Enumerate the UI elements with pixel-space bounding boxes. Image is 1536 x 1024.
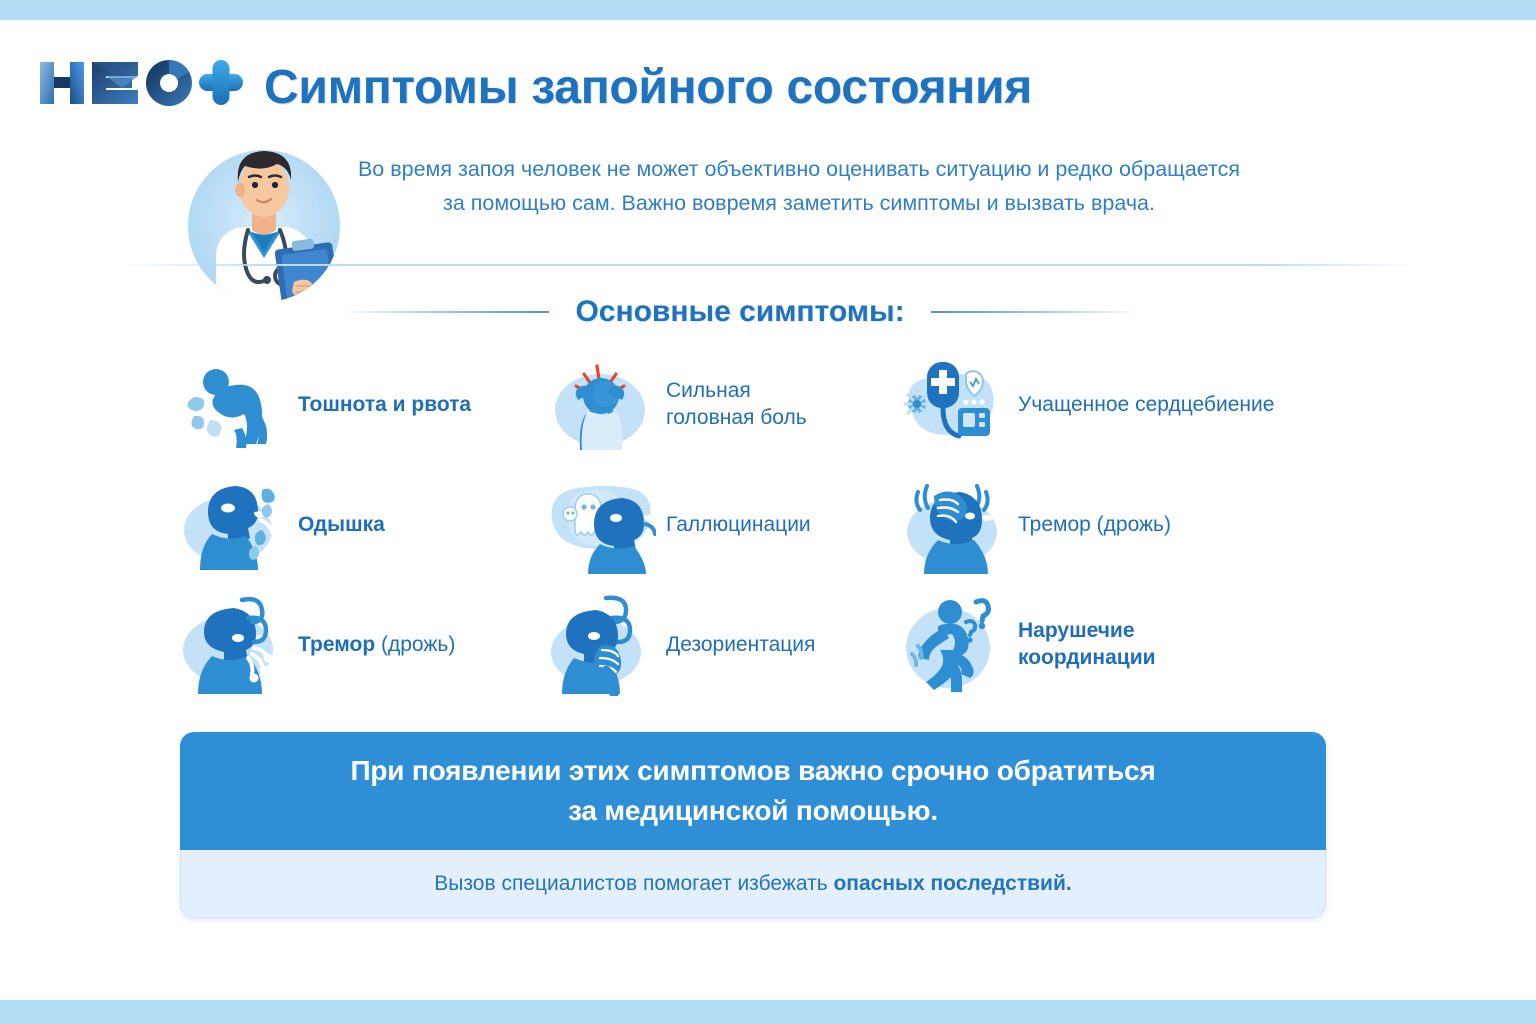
symptom-item[interactable]: Сильная головная боль: [544, 344, 896, 464]
shortness-of-breath-icon: [176, 472, 288, 576]
banner-footer-regular: Вызов специалистов помогает избежать: [434, 872, 833, 895]
symptom-item[interactable]: Нарушечие координации: [896, 584, 1316, 704]
symptom-label: Нарушечие координации: [1018, 617, 1156, 671]
intro-line-2: за помощью сам. Важно вовремя заметить с…: [318, 186, 1280, 220]
symptom-item[interactable]: Дезориентация: [544, 584, 896, 704]
call-to-action-banner: При появлении этих симптомов важно срочн…: [180, 732, 1326, 918]
vomiting-person-icon: [176, 352, 288, 456]
page-header: Симптомы запойного состояния: [0, 20, 1536, 132]
heading-rule-right: [931, 311, 1140, 313]
heart-monitor-icon: [896, 352, 1008, 456]
banner-secondary: Вызов специалистов помогает избежать опа…: [180, 850, 1326, 918]
banner-primary-text: При появлении этих симптомов важно срочн…: [350, 751, 1155, 831]
hallucination-ghost-icon: [544, 472, 656, 576]
section-divider: [116, 264, 1420, 266]
symptom-label-line1: Тремор: [298, 633, 375, 656]
tremor-shaking-person-icon: [176, 592, 288, 696]
symptom-label: Учащенное сердцебиение: [1018, 391, 1274, 418]
symptom-label-line1: Учащенное сердцебиение: [1018, 393, 1274, 416]
disorientation-person-icon: [544, 592, 656, 696]
symptom-label: Сильная головная боль: [666, 377, 807, 431]
banner-line-1: При появлении этих симптомов важно срочн…: [350, 755, 1155, 786]
symptom-label-line1: Тремор (дрожь): [1018, 513, 1171, 536]
symptom-label: Тремор (дрожь): [1018, 511, 1171, 538]
symptom-item[interactable]: Тошнота и рвота: [176, 344, 544, 464]
symptom-label-line1: Одышка: [298, 513, 385, 536]
symptom-label-line1: Сильная: [666, 379, 751, 402]
neo-plus-logo-icon: [36, 52, 246, 114]
intro-line-1: Во время запоя человек не может объектив…: [318, 152, 1280, 186]
coordination-walking-icon: [896, 592, 1008, 696]
symptom-item[interactable]: Тремор (дрожь): [176, 584, 544, 704]
symptom-item[interactable]: Учащенное сердцебиение: [896, 344, 1316, 464]
symptom-label: Одышка: [298, 511, 385, 538]
neo-plus-logo[interactable]: [36, 52, 246, 114]
symptom-label-line2: головная боль: [666, 406, 807, 429]
symptom-item[interactable]: Одышка: [176, 464, 544, 584]
symptom-label-sub: (дрожь): [375, 633, 455, 656]
symptom-label: Галлюцинации: [666, 511, 811, 538]
symptom-grid: Тошнота и рвота Сильная головная боль: [176, 344, 1356, 704]
symptom-item[interactable]: Тремор (дрожь): [896, 464, 1316, 584]
heading-rule-left: [340, 311, 549, 313]
symptom-label: Тремор (дрожь): [298, 631, 455, 658]
headache-person-icon: [544, 352, 656, 456]
intro-paragraph: Во время запоя человек не может объектив…: [318, 152, 1280, 220]
symptom-label: Тошнота и рвота: [298, 391, 471, 418]
banner-footer-bold: опасных последствий.: [833, 872, 1071, 895]
banner-line-2: за медицинской помощью.: [568, 795, 938, 826]
symptom-label-line1: Галлюцинации: [666, 513, 811, 536]
symptom-label-line1: Нарушечие: [1018, 619, 1135, 642]
page-title: Симптомы запойного состояния: [264, 60, 1032, 115]
banner-primary: При появлении этих симптомов важно срочн…: [180, 732, 1326, 850]
tremor-head-hands-icon: [896, 472, 1008, 576]
symptom-label: Дезориентация: [666, 631, 815, 658]
symptom-item[interactable]: Галлюцинации: [544, 464, 896, 584]
symptom-label-line2: координации: [1018, 646, 1156, 669]
section-heading-text: Основные симптомы:: [575, 295, 904, 329]
symptom-label-line1: Тошнота и рвота: [298, 393, 471, 416]
top-accent-band: [0, 0, 1536, 20]
symptom-label-line1: Дезориентация: [666, 633, 815, 656]
bottom-accent-band: [0, 1000, 1536, 1024]
banner-secondary-text: Вызов специалистов помогает избежать опа…: [434, 872, 1071, 896]
section-heading: Основные симптомы:: [340, 288, 1140, 336]
